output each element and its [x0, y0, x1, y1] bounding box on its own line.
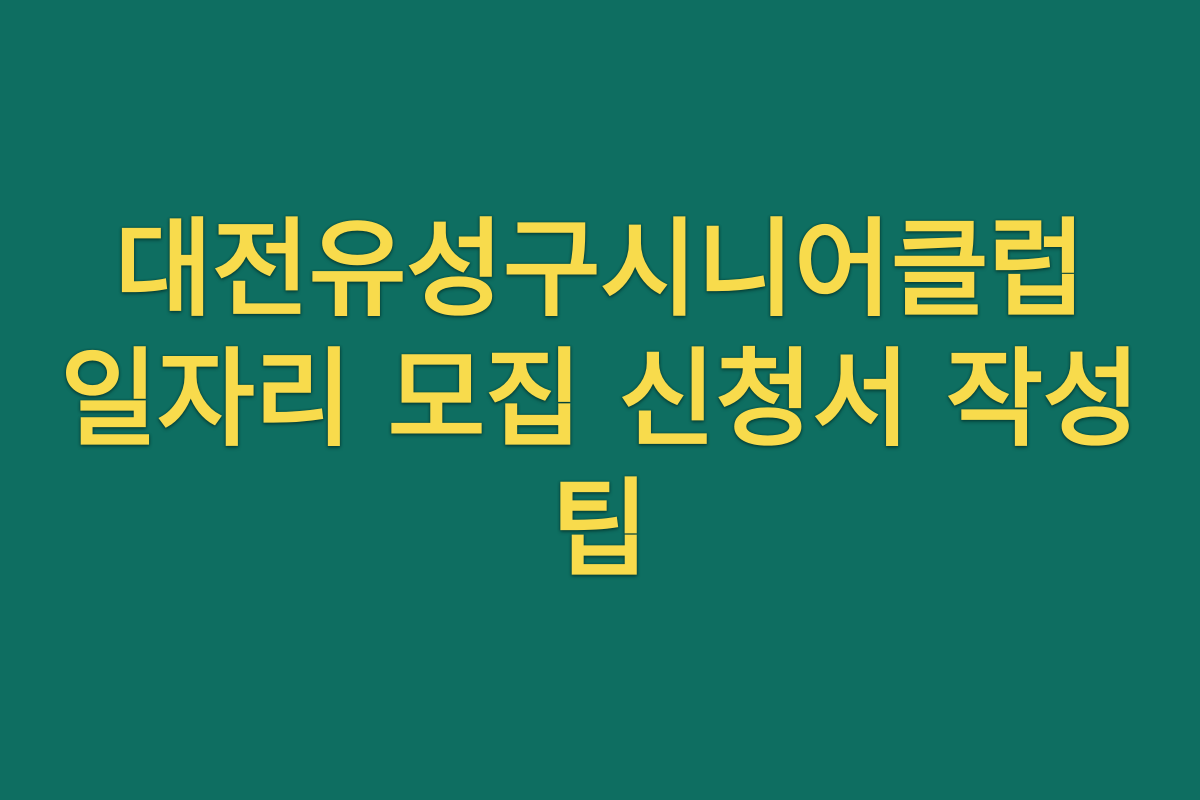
banner-canvas: 대전유성구시니어클럽 일자리 모집 신청서 작성 팁	[0, 0, 1200, 800]
headline-line-2: 일자리 모집 신청서 작성	[40, 335, 1160, 465]
headline-line-3: 팁	[40, 465, 1160, 595]
banner-headline: 대전유성구시니어클럽 일자리 모집 신청서 작성 팁	[40, 205, 1160, 595]
headline-line-1: 대전유성구시니어클럽	[40, 205, 1160, 335]
